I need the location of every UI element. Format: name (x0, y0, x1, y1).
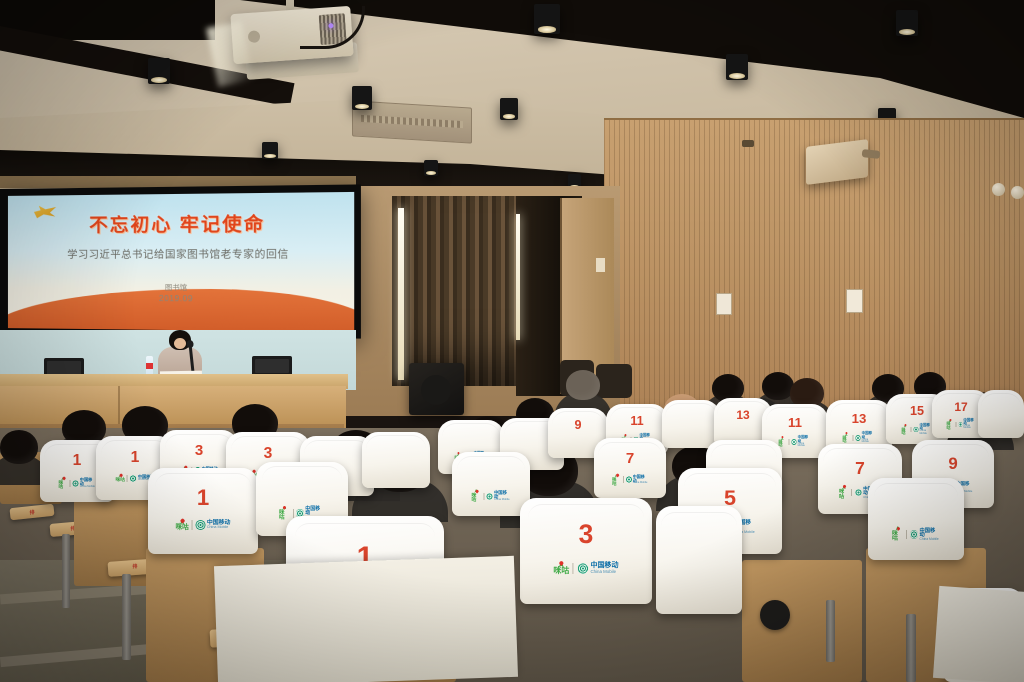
china-mobile-mark (958, 422, 962, 427)
migu-logo-icon: ᴀ咪咕 (843, 433, 851, 443)
logo-divider (127, 475, 128, 482)
china-mobile-logo-icon: 中国移动China Mobile (910, 529, 940, 541)
china-mobile-mark (130, 475, 137, 482)
floor-speaker-icon (409, 363, 464, 415)
china-mobile-en: China Mobile (798, 443, 812, 448)
migu-logo-icon: ᴀ咪咕 (839, 486, 849, 499)
projection-screen-frame: 不忘初心 牢记使命 学习习近平总书记给国家图书馆老专家的回信 图书馆 2019.… (0, 184, 361, 338)
chair-cover-logos: ᴀ咪咕中国移动China Mobile (612, 474, 648, 485)
migu-logo-dot (283, 505, 287, 509)
china-mobile-mark (486, 493, 493, 500)
migu-logo-text: 咪咕 (843, 436, 851, 443)
logo-divider (573, 563, 574, 574)
attendee-head-p19 (0, 430, 38, 464)
migu-logo-text: 咪咕 (892, 532, 904, 542)
migu-logo-icon: ᴀ咪咕 (947, 419, 954, 429)
migu-logo-text: 咪咕 (839, 490, 849, 499)
foreground-desk-right (933, 586, 1024, 682)
seat-number: 9 (912, 454, 994, 474)
chair-cover-c11[interactable] (662, 400, 720, 448)
downlight-icon-10 (424, 160, 438, 176)
migu-logo-icon: ᴀ咪咕 (902, 424, 909, 434)
chair-cover-c20[interactable]: ᴀ咪咕中国移动China Mobile (452, 452, 530, 516)
seat-number: 9 (548, 418, 608, 432)
wall-knob-1 (992, 183, 1005, 196)
seat-number: 7 (594, 450, 666, 467)
china-mobile-text: 中国移动China Mobile (633, 475, 648, 484)
logo-divider (788, 439, 789, 445)
migu-logo-icon: ᴀ咪咕 (612, 474, 621, 485)
projector-lens (248, 30, 261, 43)
migu-logo-dot (904, 423, 907, 426)
chair-cover-logos: ᴀ咪咕中国移动China Mobile (176, 520, 231, 531)
china-mobile-logo-icon: 中国移动China Mobile (72, 478, 95, 488)
china-mobile-mark (855, 489, 862, 497)
china-mobile-text: 中国移动China Mobile (590, 563, 618, 573)
china-mobile-en: China Mobile (590, 570, 618, 574)
china-mobile-text: 中国移动China Mobile (919, 529, 940, 541)
china-mobile-mark (791, 439, 796, 445)
chair-cover-logos: ᴀ咪咕中国移动China Mobile (553, 562, 618, 575)
china-mobile-text: 中国移动China Mobile (207, 521, 231, 530)
migu-logo-dot (180, 518, 185, 523)
migu-logo-icon: ᴀ咪咕 (116, 474, 125, 482)
wall-knobs (992, 183, 1024, 201)
logo-divider (906, 530, 907, 539)
slide-title: 不忘初心 牢记使命 (8, 209, 354, 238)
downlight-icon-8 (896, 10, 918, 36)
china-mobile-en: China Mobile (862, 439, 876, 444)
seat-leg-l2 (122, 574, 131, 660)
china-mobile-text: 中国移动China Mobile (494, 491, 511, 501)
china-mobile-mark (577, 563, 588, 574)
china-mobile-mark (196, 520, 206, 530)
chair-cover-c29[interactable]: ᴀ咪咕中国移动China Mobile (868, 478, 964, 560)
china-mobile-logo-icon: 中国移动China Mobile (914, 424, 933, 435)
chair-cover-c28[interactable] (656, 506, 742, 614)
migu-logo-dot (559, 560, 565, 566)
china-mobile-logo-icon: 中国移动China Mobile (577, 563, 618, 574)
seat-number: 11 (762, 415, 828, 430)
china-mobile-logo-icon: 中国移动China Mobile (196, 520, 231, 530)
foreground-desk-left (214, 556, 518, 682)
downlight-icon-1 (148, 58, 170, 84)
chair-cover-logos: ᴀ咪咕中国移动China Mobile (892, 527, 940, 542)
migu-logo-text: 咪咕 (553, 568, 569, 575)
seat-number: 13 (826, 411, 892, 426)
wall-switch-plate[interactable] (716, 293, 732, 315)
armrest-tag: 排 (132, 563, 137, 570)
migu-logo-icon: ᴀ咪咕 (892, 527, 904, 542)
china-mobile-en: China Mobile (919, 430, 932, 435)
china-mobile-en: China Mobile (919, 538, 940, 541)
downlight-icon-9 (262, 142, 278, 159)
logo-divider (851, 489, 852, 497)
china-mobile-mark (72, 480, 78, 487)
migu-logo-icon: ᴀ咪咕 (553, 562, 569, 575)
logo-divider (623, 476, 624, 483)
chair-cover-logos: ᴀ咪咕中国移动China Mobile (779, 436, 812, 447)
china-mobile-text: 中国移动China Mobile (919, 424, 932, 435)
logo-divider (293, 509, 294, 517)
downlight-icon-3 (500, 98, 518, 120)
china-mobile-text: 中国移动China Mobile (80, 478, 96, 488)
migu-logo-text: 咪咕 (176, 525, 189, 531)
china-mobile-en: China Mobile (80, 486, 96, 488)
china-mobile-mark (855, 435, 860, 441)
china-mobile-logo-icon: 中国移动China Mobile (486, 491, 510, 501)
seat-number: 7 (818, 458, 902, 479)
light-strip-left (398, 208, 404, 380)
logo-divider (911, 427, 912, 432)
logo-divider (955, 422, 956, 427)
cup-holder (760, 600, 790, 630)
migu-logo-text: 咪咕 (902, 428, 909, 435)
chair-cover-c17[interactable] (978, 390, 1024, 438)
migu-logo-text: 咪咕 (779, 440, 787, 447)
seat-leg-r2 (906, 614, 916, 682)
china-mobile-logo-icon: 中国移动China Mobile (791, 436, 811, 447)
wall-switch-plate-2[interactable] (846, 289, 863, 313)
chair-cover-c26[interactable]: 3ᴀ咪咕中国移动China Mobile (520, 498, 652, 604)
china-mobile-mark (914, 427, 919, 432)
auditorium-photo: 不忘初心 牢记使命 学习习近平总书记给国家图书馆老专家的回信 图书馆 2019.… (0, 0, 1024, 682)
chair-cover-c18[interactable]: 1ᴀ咪咕中国移动China Mobile (148, 468, 258, 554)
logo-divider (192, 520, 193, 530)
migu-logo-text: 咪咕 (59, 481, 68, 489)
chair-cover-logos: ᴀ咪咕中国移动China Mobile (843, 432, 876, 443)
light-strip-right (516, 214, 520, 340)
china-mobile-logo-icon: 中国移动China Mobile (626, 475, 648, 484)
attendee-head-p9 (566, 370, 600, 400)
seat-number: 1 (148, 485, 258, 511)
china-mobile-mark (626, 476, 632, 483)
projection-screen: 不忘初心 牢记使命 学习习近平总书记给国家图书馆老专家的回信 图书馆 2019.… (8, 192, 354, 332)
chair-cover-logos: ᴀ咪咕中国移动China Mobile (902, 424, 933, 435)
ceiling-sensor-icon (742, 140, 754, 147)
migu-logo-icon: ᴀ咪咕 (279, 506, 290, 520)
china-mobile-en: China Mobile (963, 425, 975, 430)
seat-number: 3 (520, 519, 652, 550)
migu-logo-dot (615, 473, 619, 477)
downlight-icon-4 (534, 4, 560, 34)
china-mobile-mark (910, 530, 918, 539)
rear-chair-dark-2 (596, 364, 632, 398)
seat-leg-l1 (62, 534, 70, 608)
chair-cover-c6[interactable] (362, 432, 430, 488)
migu-logo-dot (62, 476, 66, 480)
wall-knob-2 (1011, 186, 1024, 199)
wall-speaker-icon (806, 139, 868, 185)
podium-front-panel (0, 386, 346, 428)
migu-logo-text: 咪咕 (116, 478, 125, 482)
chair-cover-logos: ᴀ咪咕中国移动China Mobile (59, 477, 96, 489)
china-mobile-en: China Mobile (494, 499, 511, 501)
downlight-icon-2 (352, 86, 372, 110)
chair-cover-logos: ᴀ咪咕中国移动China Mobile (472, 490, 511, 502)
logo-divider (483, 493, 484, 500)
downlight-icon-6 (726, 54, 748, 80)
china-mobile-logo-icon: 中国移动China Mobile (855, 432, 875, 443)
chair-cover-logos: ᴀ咪咕中国移动China Mobile (947, 419, 976, 430)
seat-number: 3 (226, 445, 310, 463)
china-mobile-text: 中国移动China Mobile (862, 432, 876, 443)
migu-logo-icon: ᴀ咪咕 (779, 437, 787, 447)
migu-logo-icon: ᴀ咪咕 (59, 477, 68, 489)
slide-subtitle: 学习习近平总书记给国家图书馆老专家的回信 (8, 245, 354, 261)
seat-frame-r1 (742, 560, 862, 682)
migu-logo-text: 咪咕 (472, 495, 481, 503)
china-mobile-en: China Mobile (207, 526, 231, 529)
presenter-face (174, 338, 186, 349)
armrest-tag: 排 (29, 509, 35, 516)
seat-leg-r1 (826, 600, 835, 662)
china-mobile-logo-icon: 中国移动China Mobile (958, 419, 975, 430)
china-mobile-en: China Mobile (633, 482, 648, 484)
migu-logo-icon: ᴀ咪咕 (176, 520, 189, 531)
migu-logo-text: 咪咕 (612, 478, 621, 486)
chair-cover-c21[interactable]: 7ᴀ咪咕中国移动China Mobile (594, 438, 666, 498)
china-mobile-text: 中国移动China Mobile (963, 419, 975, 430)
logo-divider (69, 480, 70, 487)
wall-plate-small (596, 258, 605, 272)
migu-logo-text: 咪咕 (947, 422, 954, 429)
migu-logo-dot (624, 433, 627, 436)
migu-logo-icon: ᴀ咪咕 (472, 490, 481, 502)
china-mobile-text: 中国移动China Mobile (798, 436, 812, 447)
migu-logo-dot (475, 489, 479, 493)
seat-number: 11 (606, 414, 668, 428)
migu-logo-text: 咪咕 (279, 511, 290, 520)
slide-organization: 图书馆 (8, 282, 354, 294)
logo-divider (852, 435, 853, 441)
